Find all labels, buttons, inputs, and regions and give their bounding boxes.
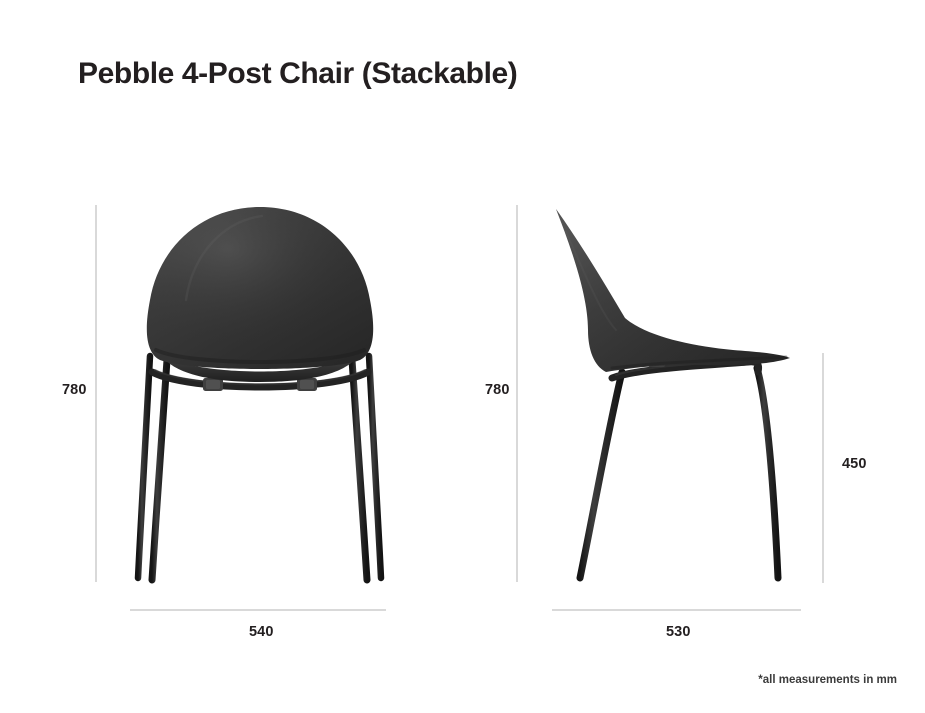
drawing-stage xyxy=(0,0,925,713)
leg-front-right xyxy=(352,360,367,580)
side-leg-front xyxy=(580,372,622,578)
dimension-label-side-height: 780 xyxy=(479,379,516,401)
measurement-footnote: *all measurements in mm xyxy=(758,674,897,686)
dimension-label-front-height: 780 xyxy=(56,379,93,401)
leg-rear-left xyxy=(138,356,150,578)
side-view-legs xyxy=(580,368,778,578)
front-view-shell-sheen xyxy=(147,207,373,369)
front-view-chair xyxy=(138,207,381,580)
side-view-shell-sheen xyxy=(556,209,790,372)
side-leg-rear xyxy=(757,368,778,578)
dimension-label-front-width: 540 xyxy=(243,621,280,643)
dimension-label-side-seat-height: 450 xyxy=(836,453,873,475)
leg-rear-right xyxy=(369,356,381,578)
leg-front-left xyxy=(152,360,167,580)
side-view-chair xyxy=(556,209,790,578)
dimension-label-side-depth: 530 xyxy=(660,621,697,643)
spec-sheet: Pebble 4-Post Chair (Stackable) xyxy=(0,0,925,713)
